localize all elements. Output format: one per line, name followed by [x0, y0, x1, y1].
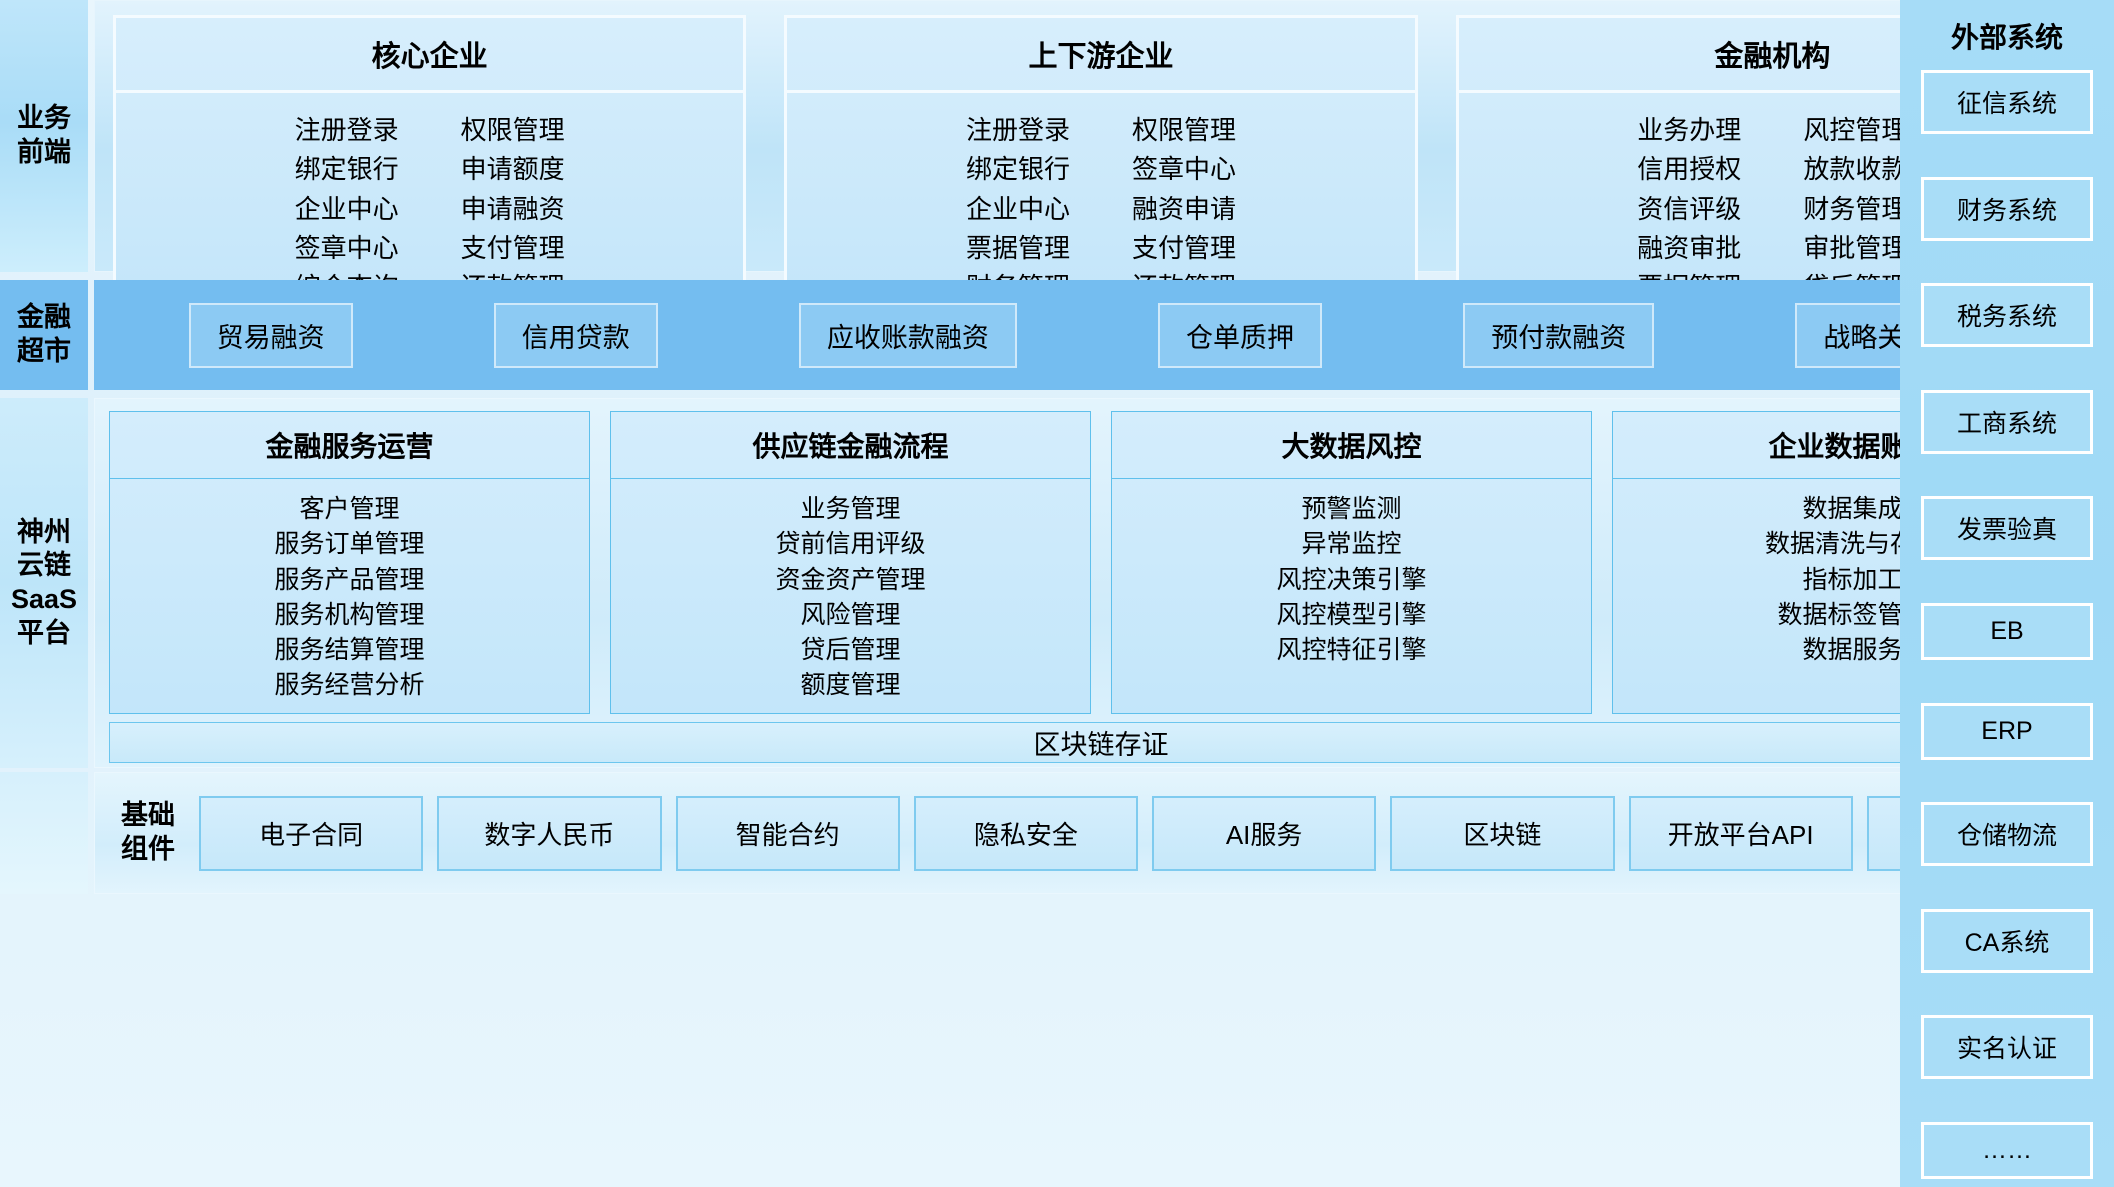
saas-panel-container: 金融服务运营 客户管理 服务订单管理 服务产品管理 服务机构管理 服务结算管理 …: [94, 398, 2108, 768]
list-item[interactable]: 指标加工: [1802, 564, 1902, 597]
sidebar-item-warehouse-logistics[interactable]: 仓储物流: [1921, 802, 2093, 866]
list-item[interactable]: 放款收款: [1803, 152, 1907, 187]
list-item[interactable]: 服务产品管理: [274, 564, 424, 597]
chip-open-platform-api[interactable]: 开放平台API: [1629, 796, 1853, 871]
row-label-line1: 神州: [11, 516, 77, 550]
list-item[interactable]: 服务机构管理: [274, 599, 424, 632]
panel-column-right: 风控管理 放款收款 财务管理 审批管理 贷后管理: [1803, 113, 1907, 306]
sidebar-item-credit-system[interactable]: 征信系统: [1921, 70, 2093, 134]
list-item[interactable]: 客户管理: [299, 493, 399, 526]
sidebar-item-real-name-authentication[interactable]: 实名认证: [1921, 1015, 2093, 1079]
chip-blockchain[interactable]: 区块链: [1390, 796, 1614, 871]
chip-warehouse-receipt-pledge[interactable]: 仓单质押: [1158, 303, 1322, 368]
chip-ai-service[interactable]: AI服务: [1152, 796, 1376, 871]
chip-trade-finance[interactable]: 贸易融资: [189, 303, 353, 368]
row-label-spacer: [0, 772, 88, 894]
list-item[interactable]: 贷后管理: [800, 634, 900, 667]
list-item[interactable]: 数据集成: [1802, 493, 1902, 526]
row-label-saas-platform: 神州 云链 SaaS 平台: [0, 398, 88, 768]
row-label-base-components: 基础 组件: [111, 799, 185, 867]
sidebar-title: 外部系统: [1921, 16, 2093, 56]
panel-column-left: 业务办理 信用授权 资信评级 融资审批 票据管理: [1637, 113, 1741, 306]
list-item[interactable]: 服务订单管理: [274, 528, 424, 561]
list-item[interactable]: 服务结算管理: [274, 634, 424, 667]
panel-supply-chain-finance-process[interactable]: 供应链金融流程 业务管理 贷前信用评级 资金资产管理 风险管理 贷后管理 额度管…: [610, 411, 1091, 714]
list-item[interactable]: 异常监控: [1301, 528, 1401, 561]
list-item[interactable]: 权限管理: [461, 113, 565, 148]
list-item[interactable]: 签章中心: [1132, 152, 1236, 187]
list-item[interactable]: 风控决策引擎: [1276, 564, 1426, 597]
list-item[interactable]: 贷前信用评级: [775, 528, 925, 561]
row-business-frontend: 业务 前端 核心企业 注册登录 绑定银行 企业中心 签章中心 综合查询 权限管理: [0, 0, 2114, 272]
list-item[interactable]: 融资申请: [1132, 192, 1236, 227]
list-item[interactable]: 资信评级: [1637, 192, 1741, 227]
list-item[interactable]: 风控模型引擎: [1276, 599, 1426, 632]
frontend-panel-container: 核心企业 注册登录 绑定银行 企业中心 签章中心 综合查询 权限管理 申请额度 …: [94, 0, 2108, 272]
sidebar-item-erp[interactable]: ERP: [1921, 703, 2093, 760]
blockchain-evidence-bar[interactable]: 区块链存证: [109, 722, 2093, 763]
list-item[interactable]: 风控特征引擎: [1276, 634, 1426, 667]
row-label-line2: 前端: [17, 136, 71, 170]
chip-digital-rmb[interactable]: 数字人民币: [437, 796, 661, 871]
panel-financial-service-operation[interactable]: 金融服务运营 客户管理 服务订单管理 服务产品管理 服务机构管理 服务结算管理 …: [109, 411, 590, 714]
list-item[interactable]: 企业中心: [295, 192, 399, 227]
list-item[interactable]: 注册登录: [966, 113, 1070, 148]
chip-credit-loan[interactable]: 信用贷款: [494, 303, 658, 368]
list-item[interactable]: 数据服务: [1802, 634, 1902, 667]
supermarket-chip-bar: 贸易融资 信用贷款 应收账款融资 仓单质押 预付款融资 战略关系融资: [94, 280, 2108, 390]
row-label-financial-supermarket: 金融 超市: [0, 280, 88, 390]
row-label-line1: 基础: [111, 799, 185, 833]
list-item[interactable]: 申请额度: [461, 152, 565, 187]
list-item[interactable]: 财务管理: [1803, 192, 1907, 227]
row-label-business-frontend: 业务 前端: [0, 0, 88, 272]
list-item[interactable]: 签章中心: [295, 231, 399, 266]
chip-receivables-finance[interactable]: 应收账款融资: [799, 303, 1017, 368]
list-item[interactable]: 支付管理: [461, 231, 565, 266]
base-components-container: 基础 组件 电子合同 数字人民币 智能合约 隐私安全 AI服务 区块链 开放平台…: [94, 772, 2108, 894]
sidebar-item-finance-system[interactable]: 财务系统: [1921, 177, 2093, 241]
list-item[interactable]: 申请融资: [461, 192, 565, 227]
chip-prepayment-finance[interactable]: 预付款融资: [1463, 303, 1654, 368]
list-item[interactable]: 业务办理: [1637, 113, 1741, 148]
row-base-components: 基础 组件 电子合同 数字人民币 智能合约 隐私安全 AI服务 区块链 开放平台…: [0, 772, 2114, 894]
list-item[interactable]: 信用授权: [1637, 152, 1741, 187]
panel-title: 供应链金融流程: [611, 412, 1090, 479]
sidebar-item-more[interactable]: ……: [1921, 1122, 2093, 1179]
list-item[interactable]: 权限管理: [1132, 113, 1236, 148]
row-label-line1: 金融: [17, 301, 71, 335]
row-label-line2: 云链: [11, 549, 77, 583]
list-item[interactable]: 绑定银行: [966, 152, 1070, 187]
row-label-line3: SaaS: [11, 583, 77, 617]
list-item[interactable]: 注册登录: [295, 113, 399, 148]
row-financial-supermarket: 金融 超市 贸易融资 信用贷款 应收账款融资 仓单质押 预付款融资 战略关系融资: [0, 280, 2114, 390]
sidebar-item-invoice-verification[interactable]: 发票验真: [1921, 496, 2093, 560]
chip-privacy-security[interactable]: 隐私安全: [914, 796, 1138, 871]
panel-column-left: 注册登录 绑定银行 企业中心 签章中心 综合查询: [295, 113, 399, 306]
sidebar-item-business-registration-system[interactable]: 工商系统: [1921, 390, 2093, 454]
list-item[interactable]: 额度管理: [800, 669, 900, 702]
list-item[interactable]: 服务经营分析: [274, 669, 424, 702]
panel-column-right: 权限管理 签章中心 融资申请 支付管理 还款管理: [1132, 113, 1236, 306]
list-item[interactable]: 绑定银行: [295, 152, 399, 187]
panel-column-right: 权限管理 申请额度 申请融资 支付管理 还款管理: [461, 113, 565, 306]
chip-electronic-contract[interactable]: 电子合同: [199, 796, 423, 871]
list-item[interactable]: 审批管理: [1803, 231, 1907, 266]
list-item[interactable]: 支付管理: [1132, 231, 1236, 266]
row-saas-platform: 神州 云链 SaaS 平台 金融服务运营 客户管理 服务订单管理 服务产品管理 …: [0, 398, 2114, 768]
list-item[interactable]: 企业中心: [966, 192, 1070, 227]
list-item[interactable]: 预警监测: [1301, 493, 1401, 526]
row-label-line2: 超市: [17, 335, 71, 369]
panel-title: 金融服务运营: [110, 412, 589, 479]
list-item[interactable]: 风控管理: [1803, 113, 1907, 148]
panel-big-data-risk-control[interactable]: 大数据风控 预警监测 异常监控 风控决策引擎 风控模型引擎 风控特征引擎: [1111, 411, 1592, 714]
list-item[interactable]: 风险管理: [800, 599, 900, 632]
panel-title: 核心企业: [116, 18, 743, 93]
sidebar-item-ca-system[interactable]: CA系统: [1921, 909, 2093, 973]
row-label-line1: 业务: [17, 102, 71, 136]
panel-title: 大数据风控: [1112, 412, 1591, 479]
panel-title: 上下游企业: [787, 18, 1414, 93]
row-label-line2: 组件: [111, 833, 185, 867]
list-item[interactable]: 融资审批: [1637, 231, 1741, 266]
row-label-line4: 平台: [11, 617, 77, 651]
architecture-diagram: 业务 前端 核心企业 注册登录 绑定银行 企业中心 签章中心 综合查询 权限管理: [0, 0, 2114, 1187]
chip-smart-contract[interactable]: 智能合约: [676, 796, 900, 871]
list-item[interactable]: 业务管理: [800, 493, 900, 526]
list-item[interactable]: 资金资产管理: [775, 564, 925, 597]
sidebar-item-eb[interactable]: EB: [1921, 603, 2093, 660]
panel-column-left: 注册登录 绑定银行 企业中心 票据管理 财务管理: [966, 113, 1070, 306]
list-item[interactable]: 票据管理: [966, 231, 1070, 266]
external-systems-sidebar: 外部系统 征信系统 财务系统 税务系统 工商系统 发票验真 EB ERP 仓储物…: [1900, 0, 2114, 1187]
sidebar-item-tax-system[interactable]: 税务系统: [1921, 283, 2093, 347]
